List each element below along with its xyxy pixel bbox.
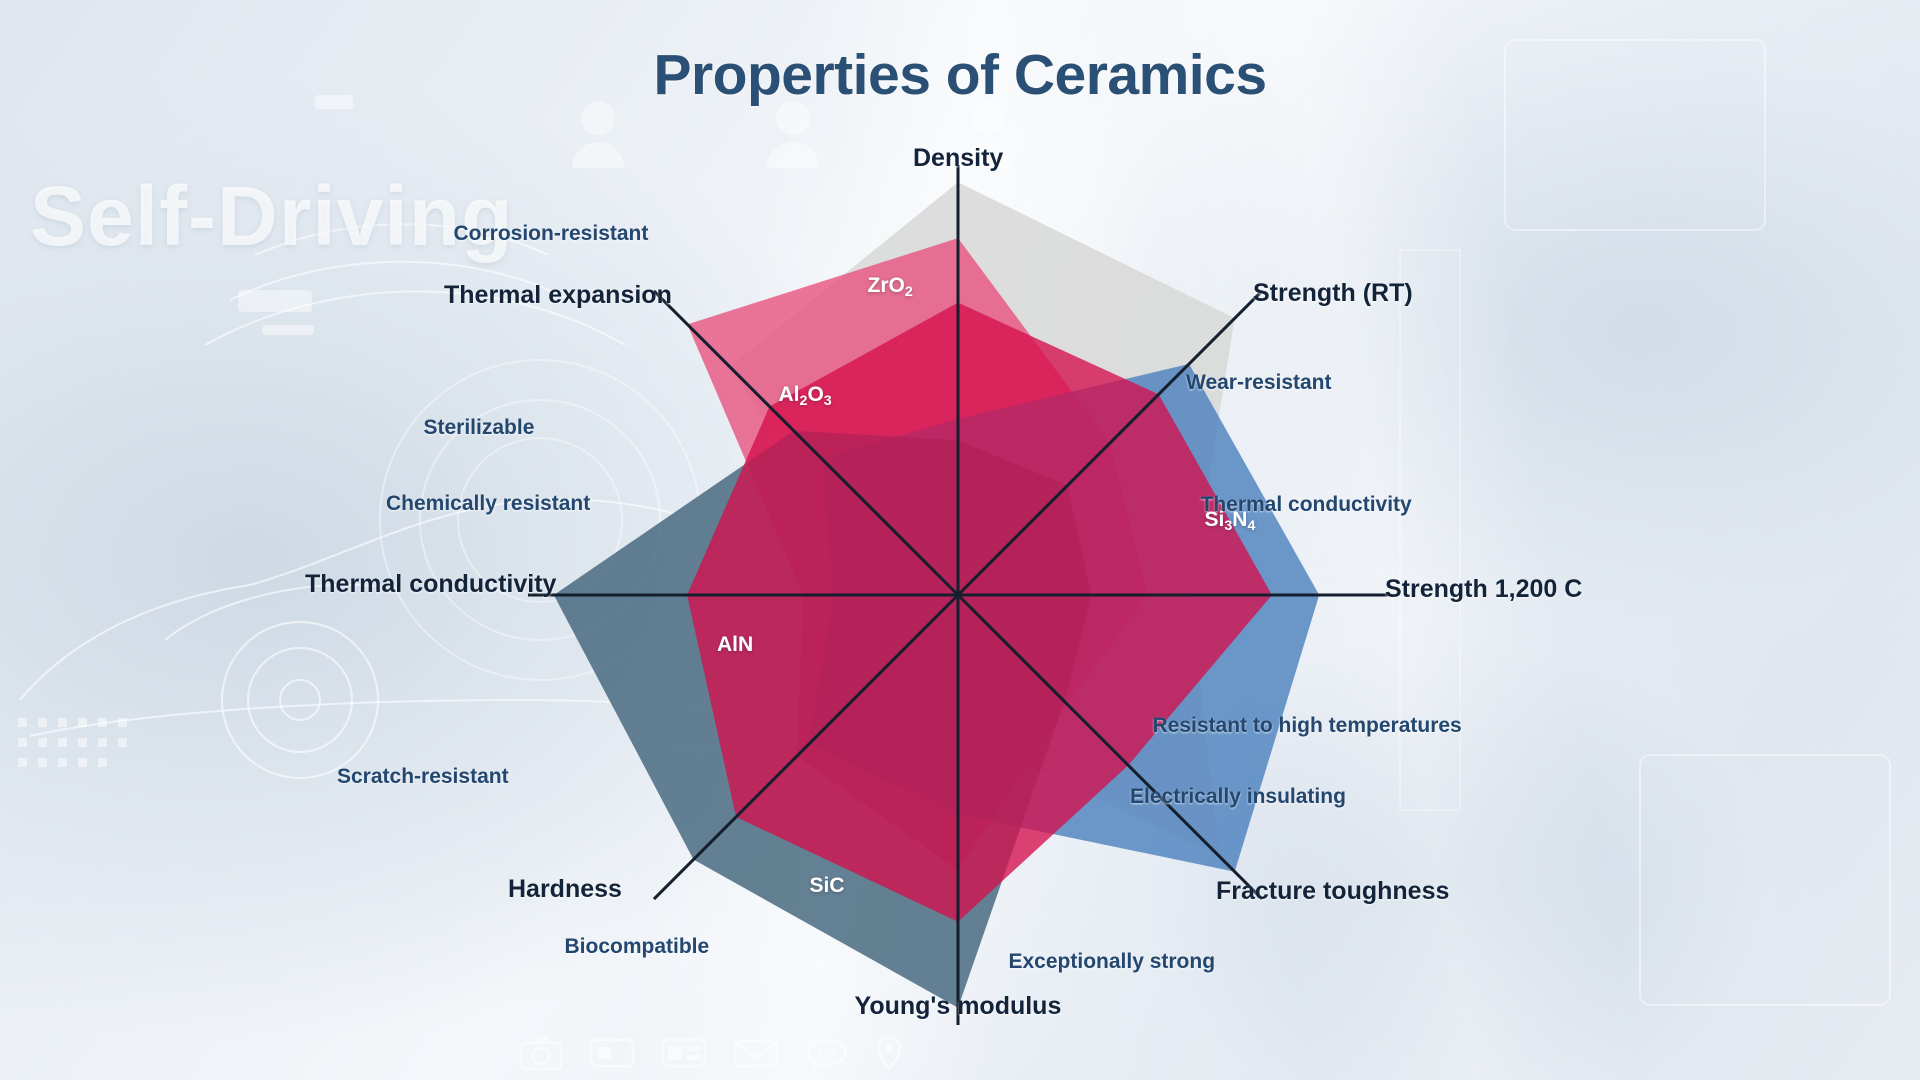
- screen-icon: [590, 1037, 634, 1069]
- axis-label-thermal-conductivity: Thermal conductivity: [305, 570, 556, 599]
- chat-icon: [806, 1037, 848, 1069]
- axis-label-fracture-toughness: Fracture toughness: [1216, 877, 1449, 906]
- benefit-label-electrically-insulating: Electrically insulating: [1130, 785, 1346, 809]
- camera-icon: [520, 1036, 562, 1070]
- axis-label-density: Density: [913, 144, 1003, 173]
- benefit-label-sterilizable: Sterilizable: [424, 416, 535, 440]
- axis-label-strength-rt: Strength (RT): [1253, 279, 1413, 308]
- benefit-label-chemically-resistant: Chemically resistant: [386, 492, 590, 516]
- benefit-label-wear-resistant: Wear-resistant: [1186, 371, 1332, 395]
- series-label-al2o3: Al2O3: [779, 383, 832, 409]
- series-label-aln: AlN: [717, 633, 753, 657]
- benefit-label-corrosion-resistant: Corrosion-resistant: [454, 222, 649, 246]
- pin-icon: [876, 1036, 902, 1070]
- benefit-label-exceptionally-strong: Exceptionally strong: [1009, 950, 1216, 974]
- axis-label-thermal-expansion: Thermal expansion: [444, 281, 672, 310]
- axis-label-young-s-modulus: Young's modulus: [855, 992, 1062, 1021]
- window-icon: [662, 1037, 706, 1069]
- mail-icon: [734, 1037, 778, 1069]
- benefit-label-biocompatible: Biocompatible: [565, 935, 710, 959]
- axis-label-strength-1-200-c: Strength 1,200 C: [1385, 575, 1582, 604]
- benefit-label-thermal-conductivity: Thermal conductivity: [1201, 493, 1412, 517]
- axis-label-hardness: Hardness: [508, 875, 622, 904]
- footer-icon-strip: [520, 1036, 902, 1070]
- series-label-zro2: ZrO2: [868, 274, 913, 300]
- series-label-sic: SiC: [810, 874, 845, 898]
- benefit-label-resistant-to-high-temperatures: Resistant to high temperatures: [1153, 714, 1462, 738]
- benefit-label-scratch-resistant: Scratch-resistant: [337, 765, 509, 789]
- radar-chart: DensityStrength (RT)Strength 1,200 CFrac…: [0, 0, 1920, 1080]
